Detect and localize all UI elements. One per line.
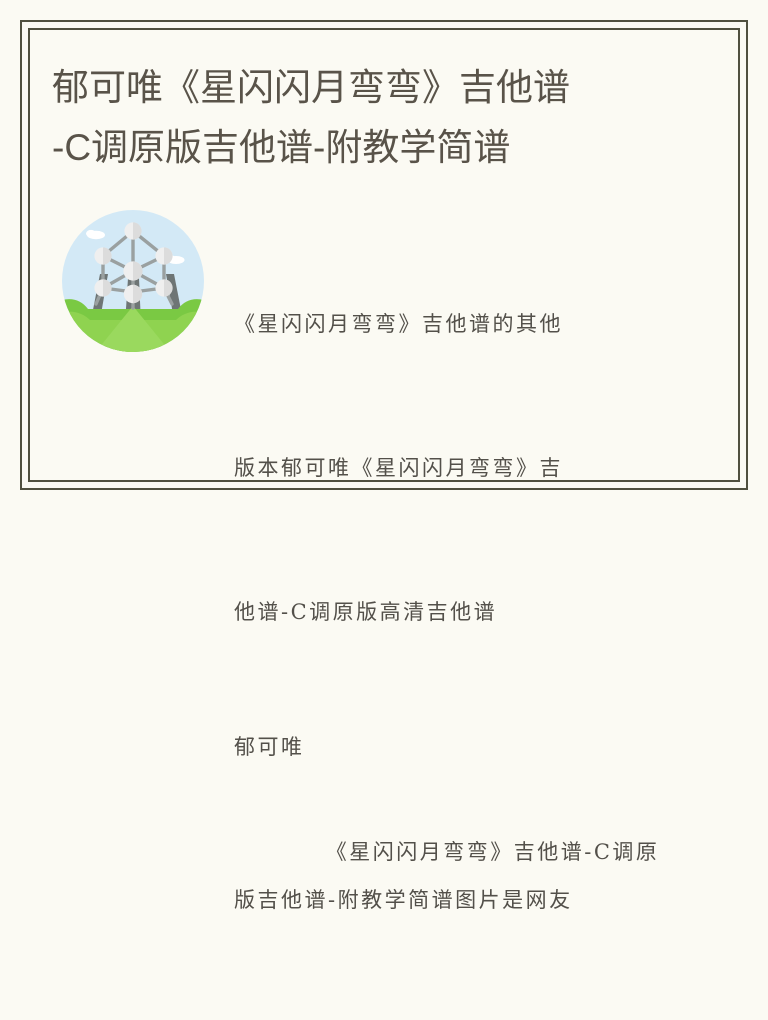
- atomium-monument-icon: [60, 208, 206, 354]
- article-block: 《星闪闪月弯弯》吉他谱的其他 版本郁可唯《星闪闪月弯弯》吉 他谱-C调原版高清吉…: [52, 204, 716, 454]
- summary-line: 他谱-C调原版高清吉他谱: [234, 588, 704, 636]
- article-thumbnail[interactable]: [60, 208, 206, 354]
- page-root: 郁可唯《星闪闪月弯弯》吉他谱 -C调原版吉他谱-附教学简谱: [0, 0, 768, 510]
- summary-line: 《星闪闪月弯弯》吉他谱的其他: [234, 300, 704, 348]
- page-title: 郁可唯《星闪闪月弯弯》吉他谱 -C调原版吉他谱-附教学简谱: [52, 58, 682, 178]
- summary-line: 版本郁可唯《星闪闪月弯弯》吉: [234, 444, 704, 492]
- card-content: 郁可唯《星闪闪月弯弯》吉他谱 -C调原版吉他谱-附教学简谱: [28, 28, 740, 482]
- summary-line-overprinted: 郁可唯 《星闪闪月弯弯》吉他谱-C调原: [234, 732, 704, 780]
- overprint-fragment: 郁可唯: [234, 723, 305, 771]
- summary-line: 《星闪闪月弯弯》吉他谱-C调原: [326, 840, 660, 864]
- article-summary: 《星闪闪月弯弯》吉他谱的其他 版本郁可唯《星闪闪月弯弯》吉 他谱-C调原版高清吉…: [234, 204, 704, 1020]
